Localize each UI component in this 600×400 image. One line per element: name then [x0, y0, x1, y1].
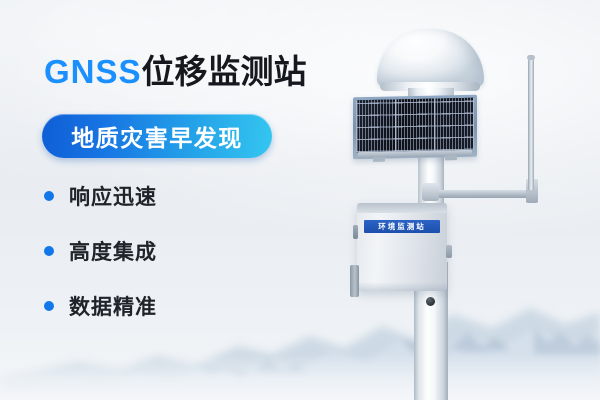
enclosure-label: 环境监测站	[364, 220, 440, 233]
list-item: 响应迅速	[44, 182, 157, 210]
enclosure-tab-right	[446, 245, 452, 258]
enclosure-shadow	[357, 282, 447, 291]
feature-label: 响应迅速	[69, 181, 157, 211]
enclosure-tab-left	[353, 225, 358, 239]
antenna-mounting-arm	[430, 190, 534, 198]
page-title: GNSS位移监测站	[44, 55, 307, 88]
feature-list: 响应迅速 高度集成 数据精准	[44, 182, 157, 347]
solar-panel-clip	[373, 157, 385, 162]
equipment-enclosure: 环境监测站	[357, 203, 447, 291]
whip-antenna-tip	[527, 55, 535, 60]
enclosure-top-cap	[357, 203, 447, 213]
product-banner: GNSS位移监测站 地质灾害早发现 响应迅速 高度集成 数据精准	[0, 0, 600, 400]
tagline-badge: 地质灾害早发现	[42, 114, 272, 158]
gnss-dome-antenna-icon	[377, 29, 484, 87]
device-illustration: 环境监测站	[330, 0, 600, 400]
mast-sensor-port-icon	[426, 297, 435, 306]
enclosure-hinge	[350, 265, 359, 297]
list-item: 数据精准	[44, 292, 157, 320]
headline-en: GNSS	[44, 53, 142, 90]
tagline-badge-label: 地质灾害早发现	[71, 119, 243, 153]
feature-label: 高度集成	[69, 236, 157, 266]
list-item: 高度集成	[44, 237, 157, 265]
feature-label: 数据精准	[69, 291, 157, 321]
copy-column: GNSS位移监测站 地质灾害早发现 响应迅速 高度集成 数据精准	[0, 0, 330, 400]
bullet-dot-icon	[44, 191, 54, 201]
solar-panel	[353, 95, 477, 160]
whip-antenna-rod	[528, 58, 534, 190]
headline-cn: 位移监测站	[142, 53, 307, 90]
bullet-dot-icon	[44, 301, 54, 311]
enclosure-label-text: 环境监测站	[378, 221, 426, 232]
bullet-dot-icon	[44, 246, 54, 256]
solar-panel-clip	[445, 155, 457, 160]
arm-clamp-left	[422, 183, 439, 201]
solar-panel-cells	[356, 98, 474, 152]
